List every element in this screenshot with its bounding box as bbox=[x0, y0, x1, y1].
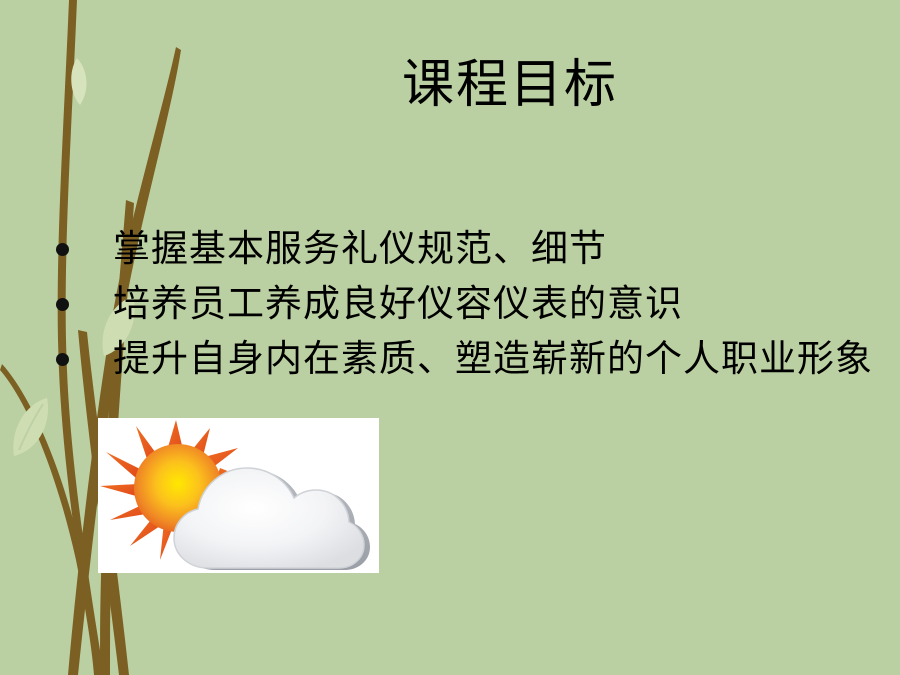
list-item-label: 培养员工养成良好仪容仪表的意识 bbox=[113, 284, 683, 325]
grass-leaf-3-vein bbox=[19, 404, 43, 450]
sun-behind-cloud-icon bbox=[98, 418, 379, 573]
bullet-dot-icon bbox=[56, 243, 69, 256]
bullet-dot-icon bbox=[56, 353, 69, 366]
list-item-label: 掌握基本服务礼仪规范、细节 bbox=[113, 229, 607, 270]
list-item-label: 提升自身内在素质、塑造崭新的个人职业形象 bbox=[113, 339, 873, 380]
page-title: 课程目标 bbox=[180, 55, 840, 117]
list-item: 培养员工养成良好仪容仪表的意识 bbox=[48, 277, 878, 332]
list-item: 提升自身内在素质、塑造崭新的个人职业形象 bbox=[48, 332, 878, 387]
grass-stem-5 bbox=[0, 364, 101, 675]
bullet-list: 掌握基本服务礼仪规范、细节 培养员工养成良好仪容仪表的意识 提升自身内在素质、塑… bbox=[48, 222, 878, 387]
sun-behind-cloud-image bbox=[98, 418, 379, 573]
grass-leaf-1 bbox=[71, 58, 86, 105]
list-item: 掌握基本服务礼仪规范、细节 bbox=[48, 222, 878, 277]
bullet-dot-icon bbox=[56, 298, 69, 311]
presentation-slide: 课程目标 掌握基本服务礼仪规范、细节 培养员工养成良好仪容仪表的意识 提升自身内… bbox=[0, 0, 900, 675]
grass-leaf-3 bbox=[13, 398, 48, 456]
